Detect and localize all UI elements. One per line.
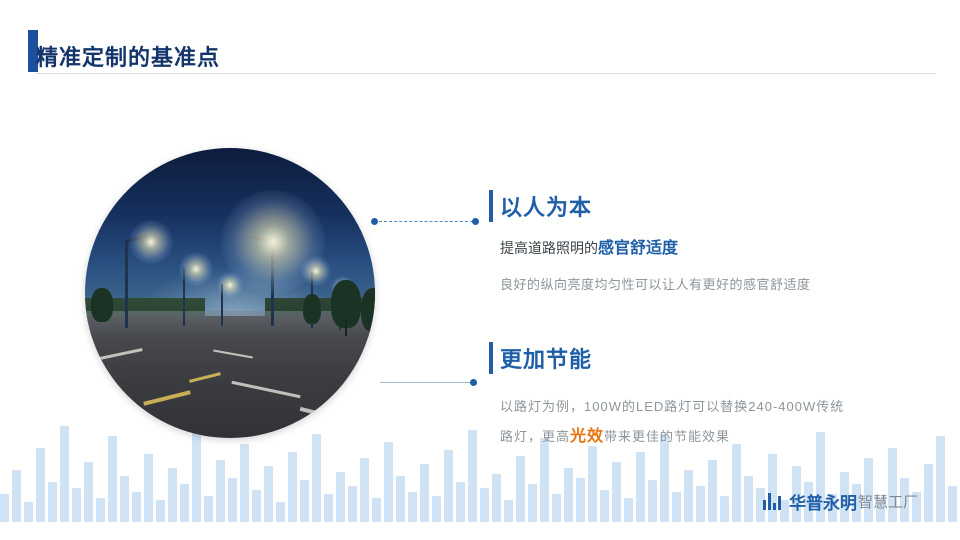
tree xyxy=(91,288,113,322)
block-2-body-line1: 以路灯为例，100W的LED路灯可以替换240-400W传统 xyxy=(500,399,844,414)
block-1-subtitle: 提高道路照明的感官舒适度 xyxy=(500,234,678,258)
decorative-bar xyxy=(12,470,21,522)
decorative-bar xyxy=(720,496,729,522)
decorative-bar xyxy=(528,484,537,522)
connector-dot-1b xyxy=(472,218,479,225)
decorative-bar xyxy=(24,502,33,522)
block-2-body-highlight: 光效 xyxy=(570,428,604,445)
page-title: 精准定制的基准点 xyxy=(36,40,220,72)
decorative-bar xyxy=(288,452,297,522)
decorative-bar xyxy=(336,472,345,522)
decorative-bar xyxy=(600,490,609,522)
decorative-bar xyxy=(192,432,201,522)
decorative-bar xyxy=(456,482,465,522)
block-2-body: 以路灯为例，100W的LED路灯可以替换240-400W传统路灯，更高光效带来更… xyxy=(500,392,930,452)
decorative-bar xyxy=(36,448,45,522)
decorative-bar xyxy=(708,460,717,522)
decorative-bar xyxy=(588,446,597,522)
lamp-light xyxy=(129,220,173,264)
decorative-bar xyxy=(312,434,321,522)
title-divider xyxy=(36,73,936,74)
night-road-streetlight-photo xyxy=(85,148,375,438)
decorative-bar xyxy=(180,484,189,522)
connector-line-2 xyxy=(380,382,472,383)
decorative-bar xyxy=(348,486,357,522)
decorative-bar xyxy=(276,502,285,522)
decorative-bar xyxy=(216,460,225,522)
decorative-bar xyxy=(240,444,249,522)
decorative-bar xyxy=(504,500,513,522)
decorative-bar xyxy=(684,470,693,522)
block-2-body-line2-post: 带来更佳的节能效果 xyxy=(604,429,730,444)
decorative-bar xyxy=(552,494,561,522)
tree xyxy=(303,294,321,324)
decorative-bar xyxy=(204,496,213,522)
decorative-bar xyxy=(696,486,705,522)
decorative-bar xyxy=(444,450,453,522)
decorative-bar xyxy=(168,468,177,522)
lamp-light xyxy=(301,256,331,286)
lamp-light xyxy=(179,252,213,286)
slide-root: 精准定制的基准点 xyxy=(0,0,960,540)
logo-text-sub: 智慧工厂 xyxy=(858,491,918,512)
decorative-bar xyxy=(324,494,333,522)
decorative-bar xyxy=(0,494,9,522)
tree xyxy=(361,288,375,332)
decorative-bar xyxy=(72,488,81,522)
decorative-bar xyxy=(408,492,417,522)
photo-content xyxy=(85,148,375,438)
decorative-bar xyxy=(108,436,117,522)
decorative-bar xyxy=(252,490,261,522)
connector-dot-1 xyxy=(371,218,378,225)
connector-dot-2 xyxy=(470,379,477,386)
decorative-bar xyxy=(948,486,957,522)
decorative-bar xyxy=(564,468,573,522)
connector-dash-1 xyxy=(379,221,473,222)
decorative-bar xyxy=(132,492,141,522)
decorative-bar xyxy=(732,444,741,522)
block-1-accent xyxy=(489,190,493,222)
block-1-body: 良好的纵向亮度均匀性可以让人有更好的感官舒适度 xyxy=(500,274,811,293)
decorative-bar xyxy=(744,476,753,522)
decorative-bar xyxy=(156,500,165,522)
decorative-bar xyxy=(420,464,429,522)
decorative-bar xyxy=(936,436,945,522)
decorative-bar xyxy=(432,496,441,522)
decorative-bar xyxy=(468,430,477,522)
decorative-bar xyxy=(96,498,105,522)
decorative-bar xyxy=(492,474,501,522)
block-1-heading: 以人为本 xyxy=(500,190,592,222)
block-2-heading: 更加节能 xyxy=(500,342,592,374)
decorative-bar xyxy=(60,426,69,522)
decorative-bar xyxy=(228,478,237,522)
decorative-bar xyxy=(120,476,129,522)
decorative-bar xyxy=(396,476,405,522)
brand-logo: 华普永明 智慧工厂 xyxy=(763,488,918,514)
tree-trunk xyxy=(345,320,347,336)
lamp-pole xyxy=(125,240,128,328)
decorative-bar xyxy=(372,498,381,522)
decorative-bar xyxy=(576,478,585,522)
block-1-subtitle-prefix: 提高道路照明的 xyxy=(500,240,598,256)
decorative-bar xyxy=(300,480,309,522)
decorative-bar xyxy=(672,492,681,522)
road-surface xyxy=(85,316,375,438)
logo-bars-icon xyxy=(763,490,785,512)
decorative-bar xyxy=(924,464,933,522)
decorative-bar xyxy=(636,452,645,522)
decorative-bar xyxy=(648,480,657,522)
decorative-bar xyxy=(264,466,273,522)
block-2-accent xyxy=(489,342,493,374)
logo-text-main: 华普永明 xyxy=(789,489,857,514)
block-2-body-line2-pre: 路灯，更高 xyxy=(500,429,570,444)
decorative-bar xyxy=(624,498,633,522)
decorative-bar xyxy=(360,458,369,522)
decorative-bar xyxy=(84,462,93,522)
decorative-bar xyxy=(144,454,153,522)
decorative-bar xyxy=(480,488,489,522)
decorative-bar xyxy=(612,462,621,522)
decorative-bar xyxy=(384,442,393,522)
block-1-subtitle-highlight: 感官舒适度 xyxy=(598,240,678,257)
decorative-bar xyxy=(516,456,525,522)
decorative-bar xyxy=(48,482,57,522)
